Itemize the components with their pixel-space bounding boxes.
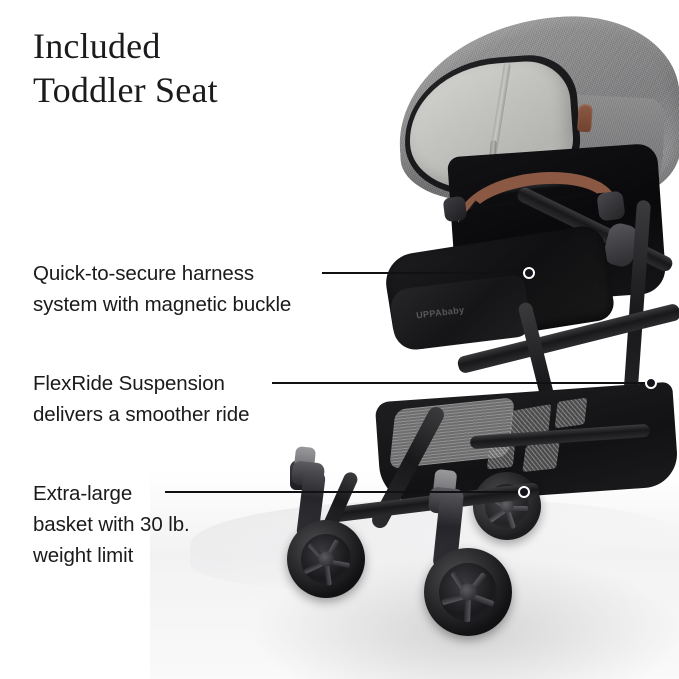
callout-suspension: FlexRide Suspension delivers a smoother … (33, 368, 378, 430)
bumper-joint-right (596, 191, 625, 222)
basket-mesh-patch (522, 442, 560, 472)
canopy-leather-tab (577, 104, 593, 133)
callout-harness: Quick-to-secure harness system with magn… (33, 258, 378, 320)
wheel-hub (460, 584, 477, 601)
leader-line-harness (322, 272, 528, 274)
leader-line-suspension (272, 382, 650, 384)
bumper-joint-left (443, 196, 468, 223)
basket-mesh-patch (555, 398, 588, 429)
leader-line-basket (165, 491, 523, 493)
front-wheel-right (424, 548, 512, 636)
page-title: Included Toddler Seat (33, 24, 363, 112)
product-infographic: UPPAbaby (0, 0, 679, 679)
basket-mesh-patch (487, 444, 515, 469)
